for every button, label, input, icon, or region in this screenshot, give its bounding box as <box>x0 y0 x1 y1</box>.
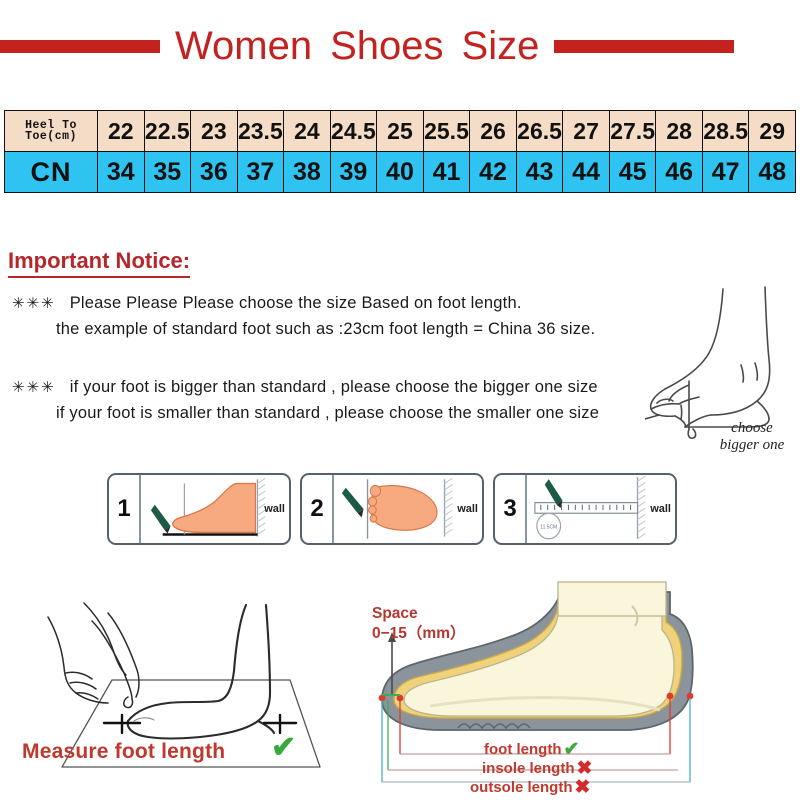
step-panel-3: 3 <box>493 473 677 545</box>
table-cell-cm: 23 <box>191 111 238 152</box>
step-number-3: 3 <box>495 475 527 543</box>
table-cell-cn: 35 <box>144 152 191 193</box>
table-cell-cn: 46 <box>656 152 703 193</box>
table-cell-cm: 29 <box>749 111 796 152</box>
wall-label-3: wall <box>650 503 671 515</box>
check-icon: ✔ <box>271 733 296 763</box>
asterisk-icon: ✳✳✳ <box>12 379 70 396</box>
title-rule-right <box>554 40 734 53</box>
table-cell-cn: 47 <box>702 152 749 193</box>
table-cell-cm: 25 <box>377 111 424 152</box>
table-row-cn: CN 34 35 36 37 38 39 40 41 42 43 44 45 4… <box>5 152 796 193</box>
table-cell-cm: 26.5 <box>516 111 563 152</box>
table-cell-cm: 22 <box>98 111 145 152</box>
legend-row-foot-length: foot length ✔ <box>484 740 730 759</box>
space-label-line-1: Space <box>372 604 465 624</box>
table-cell-cm: 28 <box>656 111 703 152</box>
title-rule-left <box>0 40 160 53</box>
table-cell-cm: 24 <box>284 111 331 152</box>
step-2-illustration: wall <box>334 475 482 543</box>
asterisk-icon: ✳✳✳ <box>12 295 70 312</box>
table-cell-cm: 22.5 <box>144 111 191 152</box>
step-number-2: 2 <box>302 475 334 543</box>
table-cell-cn: 39 <box>330 152 377 193</box>
check-icon: ✔ <box>561 740 579 759</box>
notice-line-1: ✳✳✳Please Please Please choose the size … <box>12 294 529 313</box>
cross-icon: ✖ <box>573 778 591 797</box>
table-cell-cn: 37 <box>237 152 284 193</box>
length-legend: foot length ✔ insole length ✖ outsole le… <box>470 740 730 797</box>
table-cell-cm: 24.5 <box>330 111 377 152</box>
table-cell-cm: 27.5 <box>609 111 656 152</box>
wall-label-2: wall <box>457 503 478 515</box>
cross-icon: ✖ <box>575 759 593 778</box>
table-row-heel-to-toe: Heel To Toe(cm) 22 22.5 23 23.5 24 24.5 … <box>5 111 796 152</box>
step-number-1: 1 <box>109 475 141 543</box>
legend-row-insole-length: insole length ✖ <box>482 759 730 778</box>
table-cell-cn: 34 <box>98 152 145 193</box>
notice-line-4: if your foot is smaller than standard , … <box>56 404 599 423</box>
table-cell-cm: 27 <box>563 111 610 152</box>
measure-steps: 1 <box>107 473 677 545</box>
notice-heading: Important Notice: <box>8 248 190 278</box>
size-chart-table: Heel To Toe(cm) 22 22.5 23 23.5 24 24.5 … <box>4 110 796 193</box>
row-header-heel-to-toe: Heel To Toe(cm) <box>5 111 98 152</box>
notice-line-3-text: if your foot is bigger than standard , p… <box>70 378 605 396</box>
choose-caption-line-2: bigger one <box>697 437 800 454</box>
choose-bigger-one-caption: choose bigger one <box>697 420 800 454</box>
step-1-illustration: wall <box>141 475 289 543</box>
step-panel-2: 2 <box>300 473 484 545</box>
measure-foot-caption: Measure foot length <box>22 740 225 764</box>
table-cell-cm: 26 <box>470 111 517 152</box>
ruler-badge-text: 11.5CM <box>540 525 557 531</box>
table-cell-cm: 25.5 <box>423 111 470 152</box>
table-cell-cm: 28.5 <box>702 111 749 152</box>
space-label-line-2: 0−15（mm） <box>372 624 465 644</box>
legend-label-foot-length: foot length <box>484 741 561 759</box>
notice-line-2: the example of standard foot such as :23… <box>56 320 595 339</box>
choose-caption-line-1: choose <box>697 420 800 437</box>
table-cell-cn: 45 <box>609 152 656 193</box>
legend-row-outsole-length: outsole length ✖ <box>470 778 730 797</box>
title-text: WomenShoesSize <box>160 24 554 69</box>
space-callout-label: Space 0−15（mm） <box>372 604 465 644</box>
wall-label-1: wall <box>264 503 285 515</box>
table-cell-cn: 41 <box>423 152 470 193</box>
step-3-illustration: 11.5CM wall <box>527 475 675 543</box>
table-cell-cn: 42 <box>470 152 517 193</box>
table-cell-cn: 38 <box>284 152 331 193</box>
table-cell-cn: 43 <box>516 152 563 193</box>
notice-line-1-text: Please Please Please choose the size Bas… <box>70 294 529 312</box>
title-word-1: Women <box>166 24 321 68</box>
legend-label-insole-length: insole length <box>482 760 575 778</box>
page-title: WomenShoesSize <box>0 18 800 74</box>
table-cell-cn: 44 <box>563 152 610 193</box>
legend-label-outsole-length: outsole length <box>470 779 573 797</box>
table-cell-cm: 23.5 <box>237 111 284 152</box>
row-header-cn: CN <box>5 152 98 193</box>
step-panel-1: 1 <box>107 473 291 545</box>
title-word-3: Size <box>453 24 549 68</box>
table-cell-cn: 36 <box>191 152 238 193</box>
notice-line-3: ✳✳✳if your foot is bigger than standard … <box>12 378 605 397</box>
title-word-2: Shoes <box>321 24 452 68</box>
table-cell-cn: 40 <box>377 152 424 193</box>
table-cell-cn: 48 <box>749 152 796 193</box>
